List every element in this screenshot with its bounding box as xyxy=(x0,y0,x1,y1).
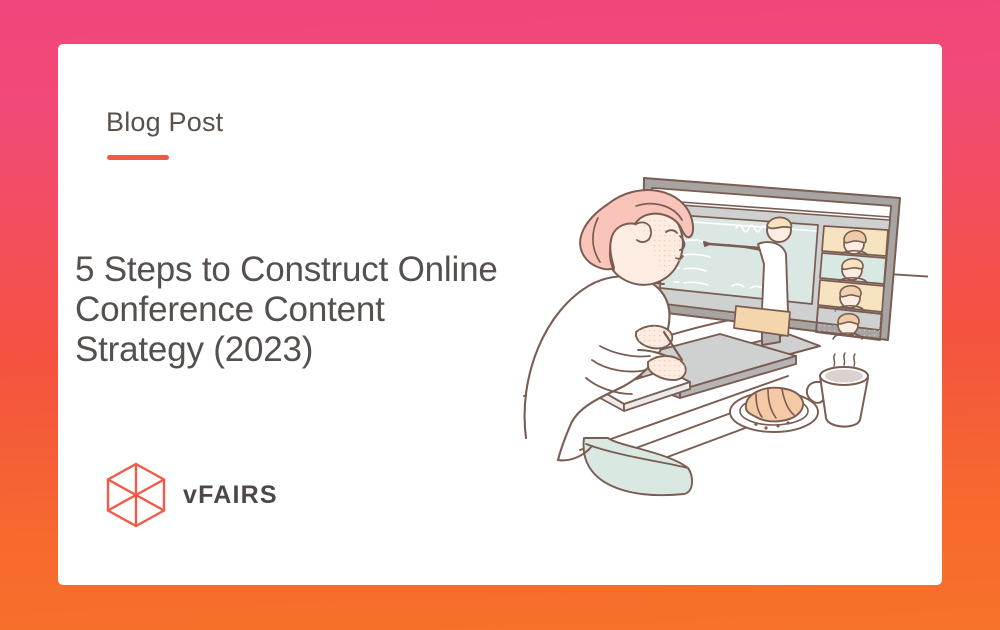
brand-logo[interactable]: vFAIRS xyxy=(105,462,278,528)
poster-background: Blog Post 5 Steps to Construct Online Co… xyxy=(0,0,1000,630)
croissant-on-plate xyxy=(730,388,818,432)
blog-post-card: Blog Post 5 Steps to Construct Online Co… xyxy=(58,44,942,585)
eyebrow-label: Blog Post xyxy=(106,107,223,138)
video-tile-2 xyxy=(820,253,886,284)
hero-illustration xyxy=(488,164,928,504)
eyebrow-underline-rule xyxy=(107,155,169,160)
page-title: 5 Steps to Construct Online Conference C… xyxy=(75,250,505,370)
vfairs-hexagon-logo-icon xyxy=(105,462,167,528)
video-tile-1 xyxy=(822,226,888,256)
brand-wordmark: vFAIRS xyxy=(183,481,278,510)
woman xyxy=(525,190,694,495)
